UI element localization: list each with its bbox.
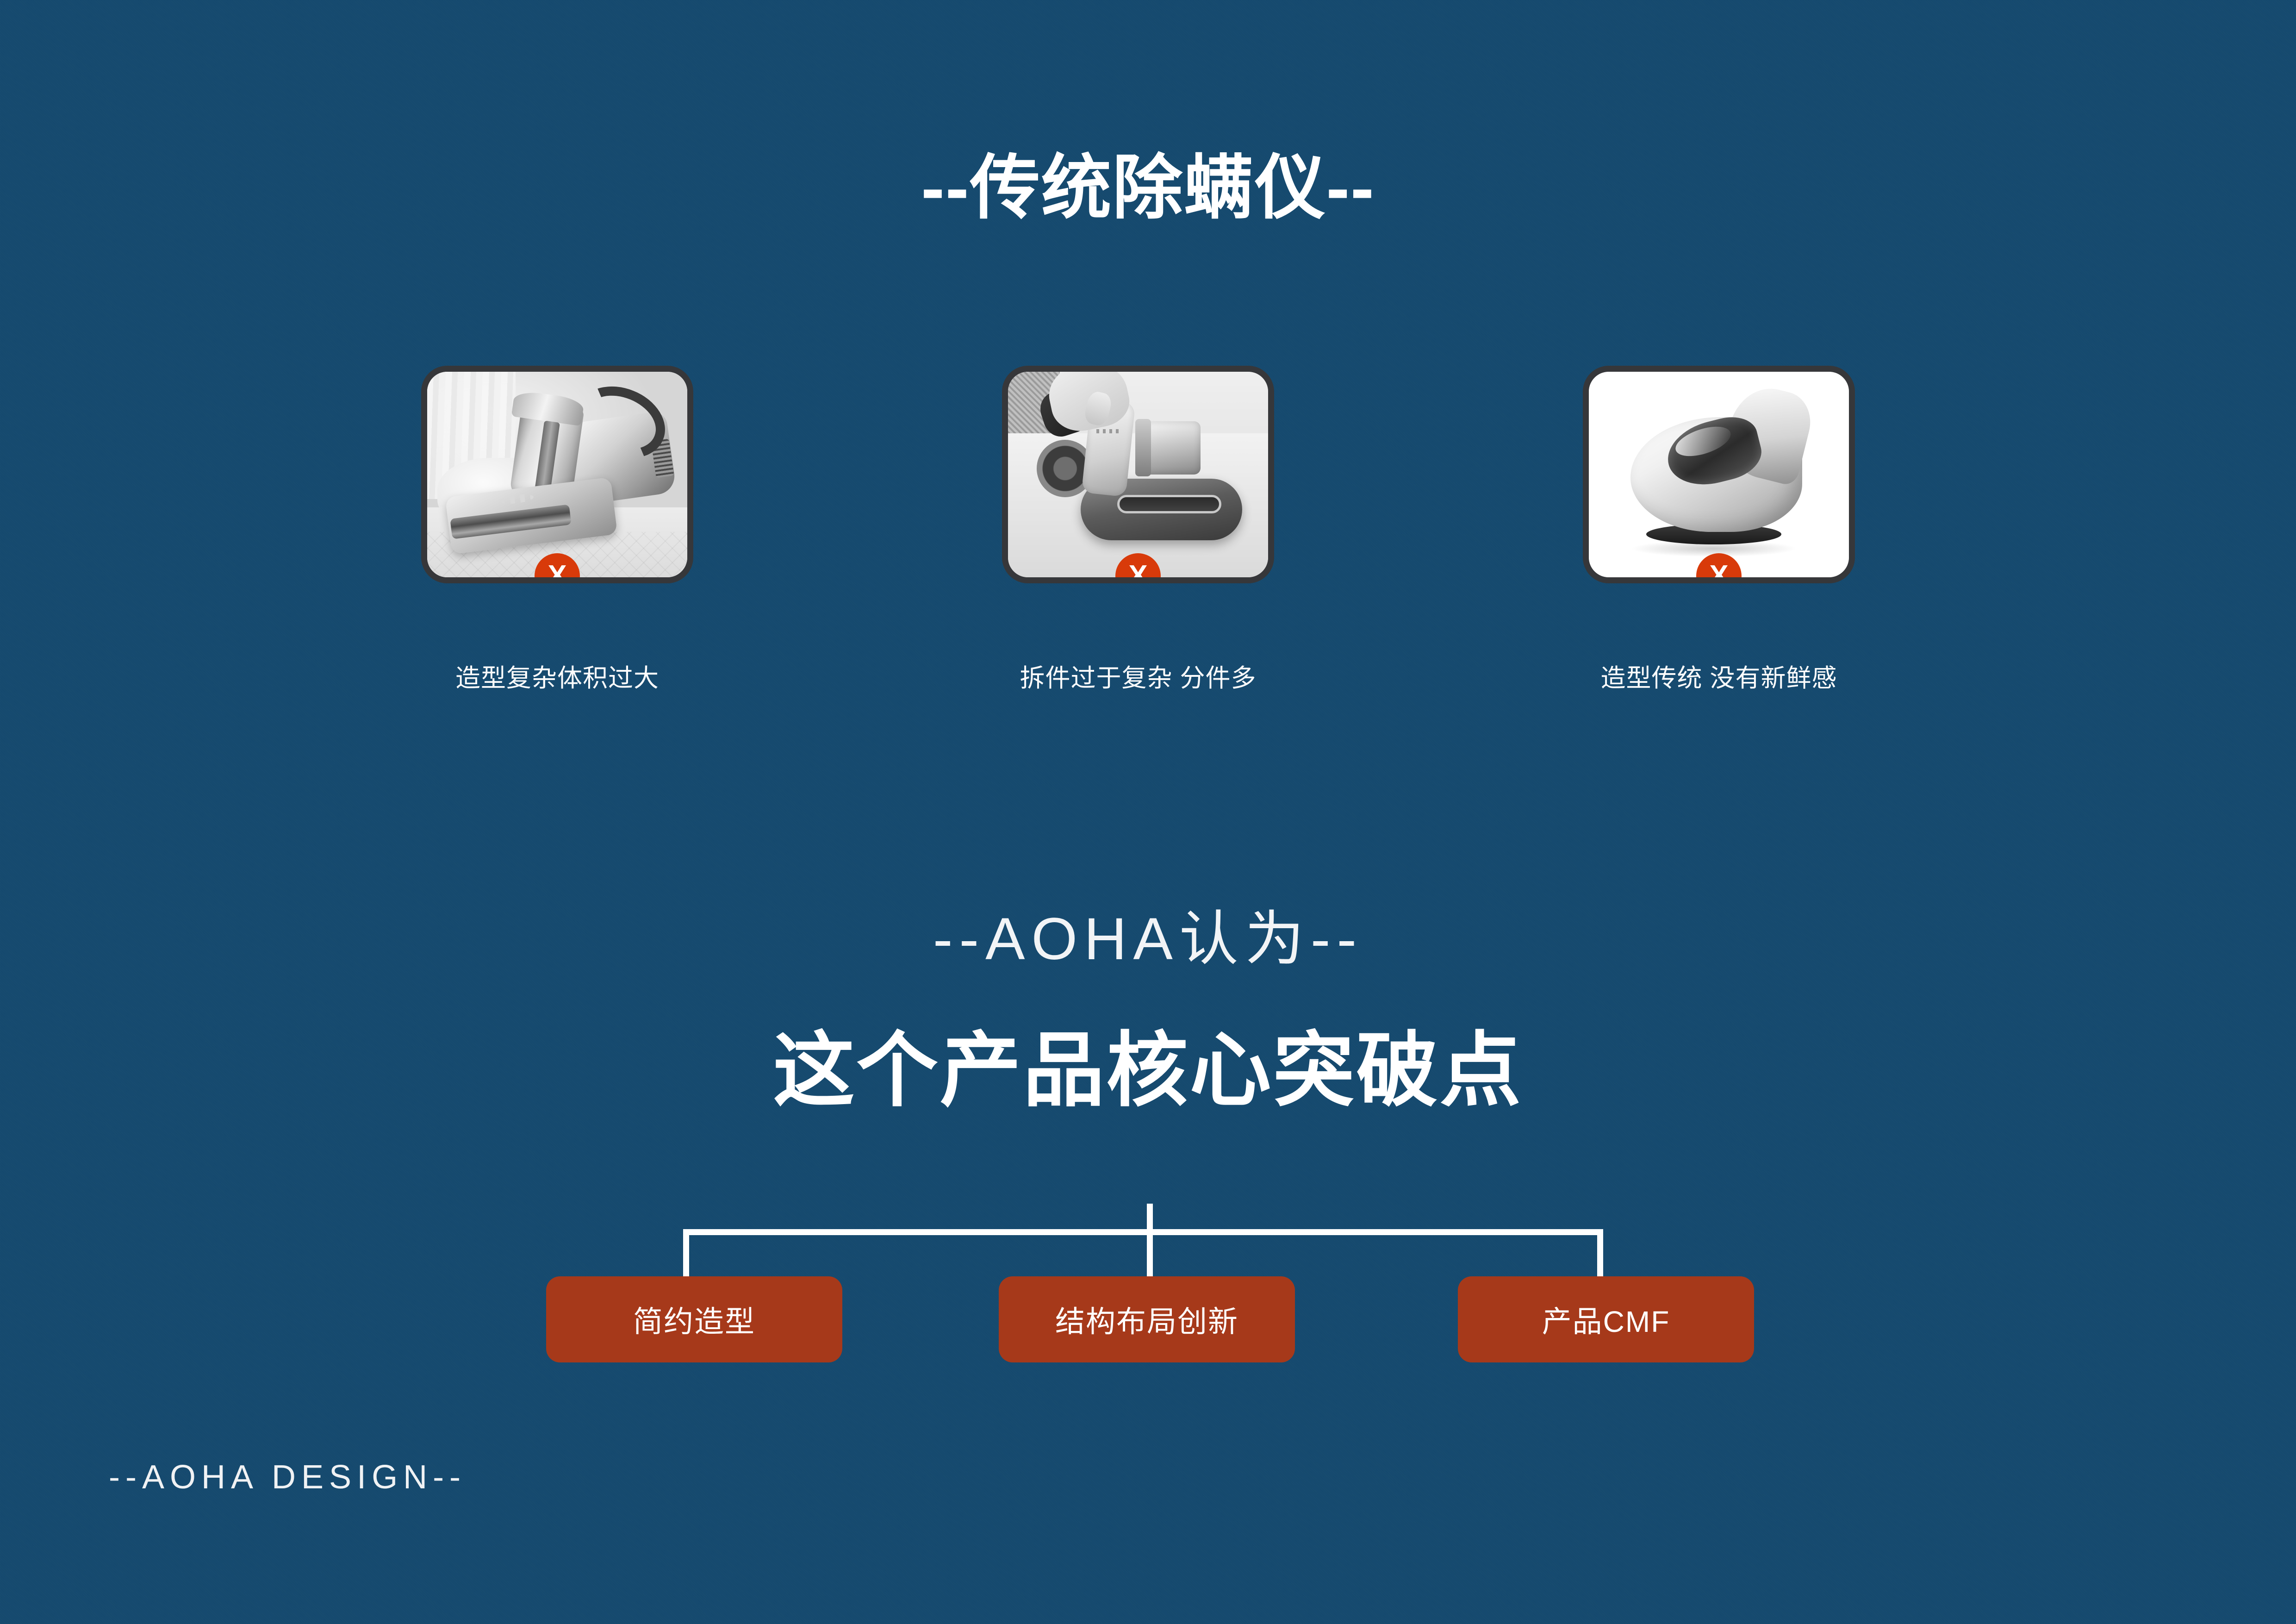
pillar-box-product-cmf[interactable]: 产品CMF [1458, 1276, 1754, 1362]
connector-stem [1147, 1204, 1153, 1232]
card-caption: 造型传统 没有新鲜感 [1583, 657, 1855, 694]
aoha-eyebrow-title: --AOHA认为-- [0, 910, 2296, 969]
section-traditional-title: --传统除螨仪-- [0, 153, 2296, 223]
traditional-card[interactable]: X 造型复杂体积过大 [421, 366, 693, 583]
connector-drop-right [1597, 1229, 1603, 1277]
card-caption: 造型复杂体积过大 [421, 657, 693, 694]
traditional-card-row: X 造型复杂体积过大 [0, 366, 2296, 718]
card-photo-frame: X [421, 366, 693, 583]
card-photo-frame: X [1002, 366, 1274, 583]
traditional-card[interactable]: X 拆件过于复杂 分件多 [1002, 366, 1274, 583]
aoha-headline: 这个产品核心突破点 [0, 1030, 2296, 1112]
pillar-box-simple-form[interactable]: 简约造型 [546, 1276, 842, 1362]
footer-brand: --AOHA DESIGN-- [109, 1461, 466, 1494]
connector-drop-center [1147, 1229, 1153, 1277]
product-photo-hand-holding-mite-vacuum [1008, 372, 1268, 577]
slide-canvas: --传统除螨仪-- [0, 0, 2296, 1624]
breakthrough-pillar-row: 简约造型 结构布局创新 产品CMF [0, 1276, 2296, 1369]
connector-horizontal-bar [683, 1229, 1603, 1235]
card-caption: 拆件过于复杂 分件多 [1002, 657, 1274, 694]
traditional-card[interactable]: X 造型传统 没有新鲜感 [1583, 366, 1855, 583]
pillar-box-structure-innovation[interactable]: 结构布局创新 [999, 1276, 1295, 1362]
product-photo-handheld-mite-vacuum-on-bed [427, 372, 687, 577]
product-photo-white-teardrop-vacuum-render [1589, 372, 1849, 577]
connector-drop-left [683, 1229, 689, 1277]
card-photo-frame: X [1583, 366, 1855, 583]
